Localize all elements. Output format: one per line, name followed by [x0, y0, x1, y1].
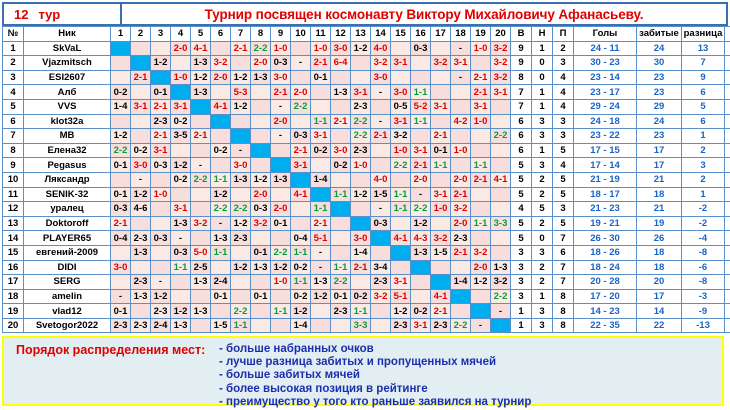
match-cell[interactable]: 1-2 [231, 260, 251, 275]
table-row[interactable]: 19vlad120-12-31-21-32-21-11-22-31-11-20-… [3, 304, 730, 319]
match-cell[interactable]: 2-1 [451, 187, 471, 202]
table-row[interactable]: 16DIDI3-01-12-51-21-31-20-2-1-12-13-42-0… [3, 260, 730, 275]
match-cell[interactable] [131, 304, 151, 319]
match-cell[interactable] [131, 260, 151, 275]
match-cell[interactable]: 1-0 [451, 143, 471, 158]
match-cell[interactable]: 1-1 [231, 318, 251, 333]
match-cell[interactable]: - [411, 187, 431, 202]
match-cell[interactable] [451, 304, 471, 319]
match-cell[interactable]: 1-2 [231, 70, 251, 85]
match-cell[interactable] [331, 129, 351, 144]
match-cell[interactable] [231, 245, 251, 260]
match-cell[interactable] [411, 289, 431, 304]
match-cell[interactable]: 3-2 [451, 202, 471, 217]
match-cell[interactable] [111, 70, 131, 85]
table-row[interactable]: 14PLAYER650-42-30-3-1-32-30-45-13-04-14-… [3, 231, 730, 246]
match-cell[interactable]: 1-0 [151, 187, 171, 202]
match-cell[interactable]: 0-2 [171, 172, 191, 187]
match-cell[interactable]: 1-2 [291, 304, 311, 319]
match-cell[interactable]: 3-1 [391, 114, 411, 129]
match-cell[interactable]: 1-2 [151, 289, 171, 304]
match-cell[interactable] [391, 172, 411, 187]
match-cell[interactable] [151, 245, 171, 260]
match-cell[interactable] [171, 56, 191, 71]
match-cell[interactable]: - [191, 158, 211, 173]
match-cell[interactable] [131, 85, 151, 100]
match-cell[interactable]: 2-1 [291, 143, 311, 158]
match-cell[interactable]: 2-3 [371, 275, 391, 290]
match-cell[interactable]: 2-4 [211, 275, 231, 290]
match-cell[interactable]: 3-0 [391, 85, 411, 100]
match-cell[interactable]: 1-2 [231, 216, 251, 231]
match-cell[interactable] [111, 172, 131, 187]
match-cell[interactable]: - [371, 114, 391, 129]
match-cell[interactable] [111, 275, 131, 290]
match-cell[interactable]: - [471, 318, 491, 333]
match-cell[interactable] [451, 99, 471, 114]
match-cell[interactable]: 1-2 [131, 187, 151, 202]
match-cell[interactable] [291, 70, 311, 85]
match-cell[interactable] [231, 289, 251, 304]
match-cell[interactable] [491, 187, 511, 202]
match-cell[interactable]: 2-3 [431, 318, 451, 333]
row-player-name[interactable]: ESI2607 [24, 70, 111, 85]
match-cell[interactable] [491, 245, 511, 260]
match-cell[interactable]: 5-2 [411, 99, 431, 114]
match-cell[interactable] [231, 56, 251, 71]
match-cell[interactable] [151, 41, 171, 56]
match-cell[interactable]: 1-2 [411, 216, 431, 231]
row-player-name[interactable]: SENIK-32 [24, 187, 111, 202]
match-cell[interactable]: 0-2 [211, 143, 231, 158]
table-row[interactable]: 3ESI26072-11-01-22-01-21-33-00-13-0-2-13… [3, 70, 730, 85]
match-cell[interactable]: 1-3 [171, 216, 191, 231]
match-cell[interactable]: 0-2 [411, 304, 431, 319]
match-cell[interactable]: - [451, 70, 471, 85]
match-cell[interactable] [431, 85, 451, 100]
match-cell[interactable]: 0-1 [211, 289, 231, 304]
match-cell[interactable]: 2-3 [331, 304, 351, 319]
match-cell[interactable]: 2-1 [471, 85, 491, 100]
match-cell[interactable]: 5-0 [191, 245, 211, 260]
match-cell[interactable] [211, 85, 231, 100]
match-cell[interactable] [111, 56, 131, 71]
match-cell[interactable]: 0-1 [151, 85, 171, 100]
match-cell[interactable]: - [311, 260, 331, 275]
match-cell[interactable]: 2-2 [331, 275, 351, 290]
match-cell[interactable] [351, 70, 371, 85]
match-cell[interactable]: 4-0 [371, 172, 391, 187]
match-cell[interactable] [191, 143, 211, 158]
match-cell[interactable]: 4-1 [191, 41, 211, 56]
match-cell[interactable]: 0-1 [311, 70, 331, 85]
match-cell[interactable]: 2-2 [451, 318, 471, 333]
match-cell[interactable] [171, 187, 191, 202]
match-cell[interactable]: 0-2 [351, 289, 371, 304]
match-cell[interactable]: - [111, 289, 131, 304]
match-cell[interactable]: 3-0 [131, 158, 151, 173]
match-cell[interactable] [131, 41, 151, 56]
match-cell[interactable]: 1-2 [151, 56, 171, 71]
match-cell[interactable]: 0-5 [391, 99, 411, 114]
match-cell[interactable]: 0-3 [151, 158, 171, 173]
match-cell[interactable] [291, 114, 311, 129]
match-cell[interactable] [211, 304, 231, 319]
match-cell[interactable]: 3-2 [471, 245, 491, 260]
match-cell[interactable]: 2-3 [151, 114, 171, 129]
match-cell[interactable] [451, 129, 471, 144]
row-player-name[interactable]: vlad12 [24, 304, 111, 319]
match-cell[interactable] [431, 216, 451, 231]
table-row[interactable]: 17SERG2-3-1-32-41-01-11-32-22-33-11-41-2… [3, 275, 730, 290]
table-row[interactable]: 8Елена322-20-23-10-2-2-10-23-02-31-03-10… [3, 143, 730, 158]
match-cell[interactable]: 1-1 [291, 275, 311, 290]
match-cell[interactable] [471, 202, 491, 217]
table-row[interactable]: 18amelin-1-31-20-10-10-21-20-10-23-25-14… [3, 289, 730, 304]
match-cell[interactable]: 3-0 [331, 41, 351, 56]
match-cell[interactable]: - [171, 231, 191, 246]
match-cell[interactable] [171, 289, 191, 304]
match-cell[interactable]: 2-2 [271, 245, 291, 260]
match-cell[interactable]: 0-3 [111, 202, 131, 217]
match-cell[interactable] [251, 318, 271, 333]
match-cell[interactable] [431, 260, 451, 275]
match-cell[interactable]: 2-1 [191, 129, 211, 144]
match-cell[interactable] [491, 231, 511, 246]
match-cell[interactable]: - [231, 143, 251, 158]
match-cell[interactable]: 1-3 [191, 85, 211, 100]
match-cell[interactable]: 0-3 [371, 216, 391, 231]
match-cell[interactable]: 0-3 [411, 41, 431, 56]
match-cell[interactable]: 2-5 [191, 260, 211, 275]
match-cell[interactable] [471, 289, 491, 304]
match-cell[interactable] [491, 158, 511, 173]
match-cell[interactable] [351, 275, 371, 290]
match-cell[interactable] [151, 172, 171, 187]
match-cell[interactable] [191, 187, 211, 202]
match-cell[interactable] [371, 143, 391, 158]
row-player-name[interactable]: Елена32 [24, 143, 111, 158]
match-cell[interactable]: 1-3 [271, 172, 291, 187]
match-cell[interactable]: 1-3 [311, 275, 331, 290]
match-cell[interactable]: 1-4 [451, 275, 471, 290]
table-row[interactable]: 6klot32a2-30-22-01-12-12-2-3-11-14-21-06… [3, 114, 730, 129]
match-cell[interactable] [271, 289, 291, 304]
match-cell[interactable]: 2-0 [451, 216, 471, 231]
match-cell[interactable]: 1-4 [351, 245, 371, 260]
match-cell[interactable]: 1-1 [411, 114, 431, 129]
row-player-name[interactable]: amelin [24, 289, 111, 304]
match-cell[interactable] [371, 245, 391, 260]
match-cell[interactable] [431, 70, 451, 85]
match-cell[interactable]: 2-1 [331, 114, 351, 129]
match-cell[interactable]: 1-3 [191, 56, 211, 71]
match-cell[interactable]: 0-4 [111, 231, 131, 246]
match-cell[interactable]: 2-2 [191, 172, 211, 187]
match-cell[interactable]: 0-3 [251, 202, 271, 217]
match-cell[interactable]: 2-3 [131, 275, 151, 290]
match-cell[interactable]: 3-1 [131, 99, 151, 114]
match-cell[interactable]: 0-2 [331, 158, 351, 173]
match-cell[interactable]: 1-2 [111, 129, 131, 144]
match-cell[interactable] [491, 114, 511, 129]
match-cell[interactable]: 0-2 [291, 289, 311, 304]
match-cell[interactable]: 2-4 [151, 318, 171, 333]
match-cell[interactable]: 2-0 [271, 114, 291, 129]
match-cell[interactable]: 3-2 [431, 56, 451, 71]
match-cell[interactable]: 2-2 [411, 202, 431, 217]
match-cell[interactable]: 1-3 [251, 70, 271, 85]
match-cell[interactable]: 1-1 [331, 187, 351, 202]
match-cell[interactable]: 3-2 [491, 41, 511, 56]
match-cell[interactable]: 2-1 [111, 216, 131, 231]
match-cell[interactable]: 3-1 [451, 56, 471, 71]
match-cell[interactable]: 0-3 [151, 231, 171, 246]
match-cell[interactable]: 2-3 [111, 318, 131, 333]
row-player-name[interactable]: SkVaL [24, 41, 111, 56]
match-cell[interactable]: 1-0 [431, 202, 451, 217]
match-cell[interactable]: 0-1 [271, 216, 291, 231]
match-cell[interactable]: 2-0 [411, 172, 431, 187]
match-cell[interactable]: 2-0 [251, 187, 271, 202]
match-cell[interactable] [251, 85, 271, 100]
match-cell[interactable]: 2-1 [351, 260, 371, 275]
match-cell[interactable] [191, 289, 211, 304]
match-cell[interactable]: 3-1 [411, 318, 431, 333]
match-cell[interactable] [231, 187, 251, 202]
match-cell[interactable]: 1-5 [211, 318, 231, 333]
match-cell[interactable] [351, 202, 371, 217]
match-cell[interactable]: 3-2 [491, 275, 511, 290]
match-cell[interactable]: 1-3 [331, 85, 351, 100]
match-cell[interactable]: - [271, 99, 291, 114]
match-cell[interactable]: - [211, 216, 231, 231]
match-cell[interactable] [251, 231, 271, 246]
match-cell[interactable]: 2-3 [151, 304, 171, 319]
match-cell[interactable]: 2-0 [291, 85, 311, 100]
match-cell[interactable] [331, 172, 351, 187]
match-cell[interactable]: 2-2 [491, 289, 511, 304]
match-cell[interactable]: 3-0 [351, 231, 371, 246]
match-cell[interactable] [471, 231, 491, 246]
table-row[interactable]: 2Vjazmitsch1-21-33-22-00-3-2-16-43-23-13… [3, 56, 730, 71]
match-cell[interactable]: 1-2 [231, 99, 251, 114]
match-cell[interactable]: 1-2 [311, 289, 331, 304]
match-cell[interactable]: 2-3 [351, 99, 371, 114]
match-cell[interactable] [331, 231, 351, 246]
table-row[interactable]: 5VVS1-43-12-13-14-11-2-2-22-30-55-23-13-… [3, 99, 730, 114]
match-cell[interactable]: 2-0 [471, 260, 491, 275]
match-cell[interactable] [271, 143, 291, 158]
match-cell[interactable]: - [131, 172, 151, 187]
row-player-name[interactable]: PLAYER65 [24, 231, 111, 246]
match-cell[interactable]: 0-3 [171, 245, 191, 260]
match-cell[interactable]: 1-1 [311, 114, 331, 129]
match-cell[interactable] [291, 41, 311, 56]
match-cell[interactable]: 1-1 [271, 304, 291, 319]
match-cell[interactable] [191, 114, 211, 129]
match-cell[interactable]: 3-1 [311, 129, 331, 144]
match-cell[interactable]: 4-1 [291, 187, 311, 202]
match-cell[interactable]: 3-2 [371, 289, 391, 304]
row-player-name[interactable]: SERG [24, 275, 111, 290]
match-cell[interactable] [491, 143, 511, 158]
match-cell[interactable]: 4-2 [451, 114, 471, 129]
match-cell[interactable]: 1-4 [291, 318, 311, 333]
table-row[interactable]: 12уралец0-34-63-12-22-20-32-01-1-1-12-21… [3, 202, 730, 217]
match-cell[interactable] [231, 275, 251, 290]
match-cell[interactable] [131, 216, 151, 231]
match-cell[interactable]: 2-1 [231, 41, 251, 56]
match-cell[interactable] [191, 318, 211, 333]
match-cell[interactable] [451, 260, 471, 275]
match-cell[interactable]: 2-0 [251, 56, 271, 71]
match-cell[interactable]: 0-3 [271, 56, 291, 71]
match-cell[interactable]: 2-3 [391, 318, 411, 333]
table-row[interactable]: 13Doktoroff2-11-33-2-1-23-20-12-10-31-22… [3, 216, 730, 231]
match-cell[interactable]: 1-1 [411, 85, 431, 100]
match-cell[interactable]: 2-0 [211, 70, 231, 85]
match-cell[interactable]: 2-0 [451, 172, 471, 187]
match-cell[interactable] [211, 260, 231, 275]
row-player-name[interactable]: klot32a [24, 114, 111, 129]
match-cell[interactable] [251, 304, 271, 319]
match-cell[interactable] [251, 158, 271, 173]
match-cell[interactable]: 1-1 [471, 158, 491, 173]
match-cell[interactable]: 0-1 [431, 143, 451, 158]
match-cell[interactable]: 1-1 [171, 260, 191, 275]
match-cell[interactable]: 0-1 [251, 245, 271, 260]
table-row[interactable]: 10Ляксандр-0-22-21-11-31-21-31-44-02-02-… [3, 172, 730, 187]
match-cell[interactable]: 1-5 [371, 187, 391, 202]
match-cell[interactable]: 1-3 [251, 260, 271, 275]
match-cell[interactable]: 1-1 [291, 245, 311, 260]
match-cell[interactable]: 2-3 [131, 231, 151, 246]
row-player-name[interactable]: евгений-2009 [24, 245, 111, 260]
row-player-name[interactable]: Алб [24, 85, 111, 100]
match-cell[interactable]: 2-2 [351, 129, 371, 144]
match-cell[interactable]: 5-1 [391, 289, 411, 304]
match-cell[interactable] [371, 304, 391, 319]
match-cell[interactable]: 3-1 [171, 202, 191, 217]
match-cell[interactable]: 1-0 [471, 41, 491, 56]
match-cell[interactable]: 1-1 [391, 187, 411, 202]
match-cell[interactable] [231, 114, 251, 129]
match-cell[interactable]: 1-2 [391, 304, 411, 319]
match-cell[interactable]: 3-0 [371, 70, 391, 85]
match-cell[interactable] [151, 216, 171, 231]
match-cell[interactable] [391, 260, 411, 275]
row-player-name[interactable]: Svetogor2022 [24, 318, 111, 333]
table-row[interactable]: 20Svetogor20222-32-32-41-31-51-11-43-32-… [3, 318, 730, 333]
match-cell[interactable]: 3-2 [491, 56, 511, 71]
match-cell[interactable]: 2-1 [451, 245, 471, 260]
match-cell[interactable]: 1-0 [271, 275, 291, 290]
match-cell[interactable]: 1-4 [311, 172, 331, 187]
match-cell[interactable]: 1-3 [131, 289, 151, 304]
match-cell[interactable]: 1-3 [191, 304, 211, 319]
match-cell[interactable]: 2-3 [131, 318, 151, 333]
match-cell[interactable]: 3-0 [271, 70, 291, 85]
match-cell[interactable] [371, 158, 391, 173]
match-cell[interactable] [351, 56, 371, 71]
match-cell[interactable] [471, 129, 491, 144]
match-cell[interactable]: 3-5 [171, 129, 191, 144]
match-cell[interactable] [251, 275, 271, 290]
match-cell[interactable]: 3-0 [331, 143, 351, 158]
match-cell[interactable]: 2-1 [131, 70, 151, 85]
match-cell[interactable]: 2-3 [351, 143, 371, 158]
match-cell[interactable]: 3-2 [191, 216, 211, 231]
match-cell[interactable]: 1-1 [211, 172, 231, 187]
row-player-name[interactable]: VVS [24, 99, 111, 114]
match-cell[interactable]: 4-3 [411, 231, 431, 246]
match-cell[interactable]: 1-2 [211, 187, 231, 202]
match-cell[interactable]: 3-1 [171, 99, 191, 114]
match-cell[interactable]: 4-0 [371, 41, 391, 56]
match-cell[interactable] [431, 172, 451, 187]
match-cell[interactable] [431, 41, 451, 56]
match-cell[interactable]: 1-2 [271, 260, 291, 275]
row-player-name[interactable]: уралец [24, 202, 111, 217]
match-cell[interactable]: 3-1 [291, 158, 311, 173]
match-cell[interactable]: 1-1 [391, 202, 411, 217]
match-cell[interactable]: 2-1 [371, 129, 391, 144]
match-cell[interactable]: 2-1 [471, 172, 491, 187]
match-cell[interactable] [251, 114, 271, 129]
match-cell[interactable]: 2-2 [391, 158, 411, 173]
match-cell[interactable]: 3-2 [491, 70, 511, 85]
match-cell[interactable]: 1-0 [271, 41, 291, 56]
match-cell[interactable]: 0-1 [111, 304, 131, 319]
match-cell[interactable]: 1-2 [191, 70, 211, 85]
match-cell[interactable]: 4-1 [211, 99, 231, 114]
match-cell[interactable]: 0-2 [131, 143, 151, 158]
match-cell[interactable]: 1-0 [351, 158, 371, 173]
match-cell[interactable] [191, 202, 211, 217]
match-cell[interactable] [371, 99, 391, 114]
match-cell[interactable] [271, 231, 291, 246]
match-cell[interactable]: 2-1 [271, 85, 291, 100]
match-cell[interactable]: 3-2 [391, 129, 411, 144]
match-cell[interactable] [211, 41, 231, 56]
match-cell[interactable]: 1-3 [211, 231, 231, 246]
match-cell[interactable]: 3-1 [491, 85, 511, 100]
match-cell[interactable] [411, 70, 431, 85]
match-cell[interactable]: 0-3 [291, 129, 311, 144]
match-cell[interactable] [171, 143, 191, 158]
match-cell[interactable] [271, 187, 291, 202]
match-cell[interactable] [351, 172, 371, 187]
match-cell[interactable]: 4-1 [391, 231, 411, 246]
match-cell[interactable]: - [371, 85, 391, 100]
match-cell[interactable] [131, 114, 151, 129]
match-cell[interactable]: 1-1 [431, 158, 451, 173]
match-cell[interactable]: 3-4 [371, 260, 391, 275]
row-player-name[interactable]: MB [24, 129, 111, 144]
row-player-name[interactable]: Ляксандр [24, 172, 111, 187]
match-cell[interactable] [331, 70, 351, 85]
match-cell[interactable] [491, 202, 511, 217]
match-cell[interactable]: 3-1 [471, 99, 491, 114]
match-cell[interactable] [111, 114, 131, 129]
match-cell[interactable]: 1-3 [191, 275, 211, 290]
table-row[interactable]: 15евгений-20091-30-35-01-10-12-21-1-1-41… [3, 245, 730, 260]
match-cell[interactable]: - [491, 304, 511, 319]
match-cell[interactable]: 1-3 [131, 245, 151, 260]
match-cell[interactable]: 3-1 [411, 143, 431, 158]
match-cell[interactable] [471, 56, 491, 71]
